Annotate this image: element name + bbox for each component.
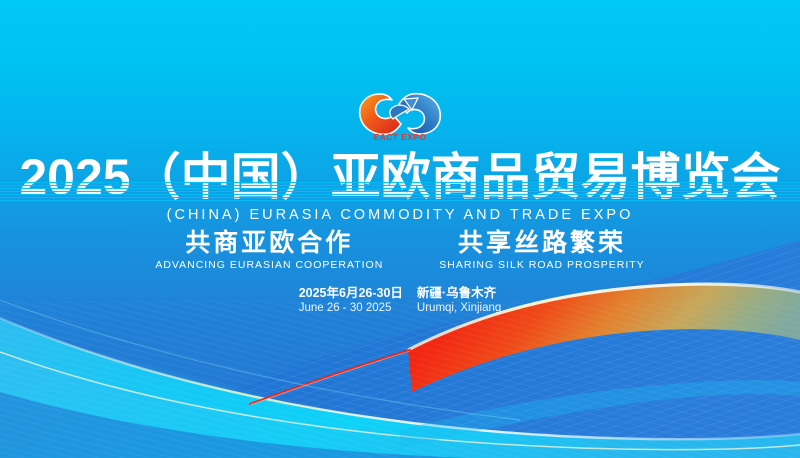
expo-poster: EACT EXPO 2025（中国）亚欧商品贸易博览会 (CHINA) EURA… [0, 0, 800, 458]
title-block: 2025（中国）亚欧商品贸易博览会 (CHINA) EURASIA COMMOD… [0, 150, 800, 224]
slogan-left-english: ADVANCING EURASIAN COOPERATION [155, 259, 383, 272]
slogans-row: 共商亚欧合作 ADVANCING EURASIAN COOPERATION 共享… [0, 228, 800, 272]
slogan-right-chinese: 共享丝路繁荣 [439, 228, 644, 258]
slogan-left-chinese: 共商亚欧合作 [155, 228, 383, 258]
slogan-right-english: SHARING SILK ROAD PROSPERITY [439, 259, 644, 272]
title-english: (CHINA) EURASIA COMMODITY AND TRADE EXPO [0, 207, 800, 224]
logo-wordmark: EACT EXPO [374, 132, 427, 142]
eact-expo-logo-icon: EACT EXPO [352, 86, 448, 142]
bottom-texture [0, 300, 800, 458]
event-date-english: June 26 - 30 2025 [299, 301, 403, 315]
main-title: 2025（中国）亚欧商品贸易博览会 [0, 150, 800, 204]
slogan-left: 共商亚欧合作 ADVANCING EURASIAN COOPERATION [155, 228, 383, 272]
event-date-chinese: 2025年6月26-30日 [299, 286, 403, 301]
slogan-right: 共享丝路繁荣 SHARING SILK ROAD PROSPERITY [439, 228, 644, 272]
event-location-english: Urumqi, Xinjiang [417, 301, 501, 315]
logo-container: EACT EXPO [0, 86, 800, 142]
event-date: 2025年6月26-30日 June 26 - 30 2025 [299, 286, 403, 315]
event-info: 2025年6月26-30日 June 26 - 30 2025 新疆·乌鲁木齐 … [0, 286, 800, 315]
event-location: 新疆·乌鲁木齐 Urumqi, Xinjiang [417, 286, 501, 315]
event-location-chinese: 新疆·乌鲁木齐 [417, 286, 501, 301]
main-title-text: 2025（中国）亚欧商品贸易博览会 [19, 150, 780, 204]
